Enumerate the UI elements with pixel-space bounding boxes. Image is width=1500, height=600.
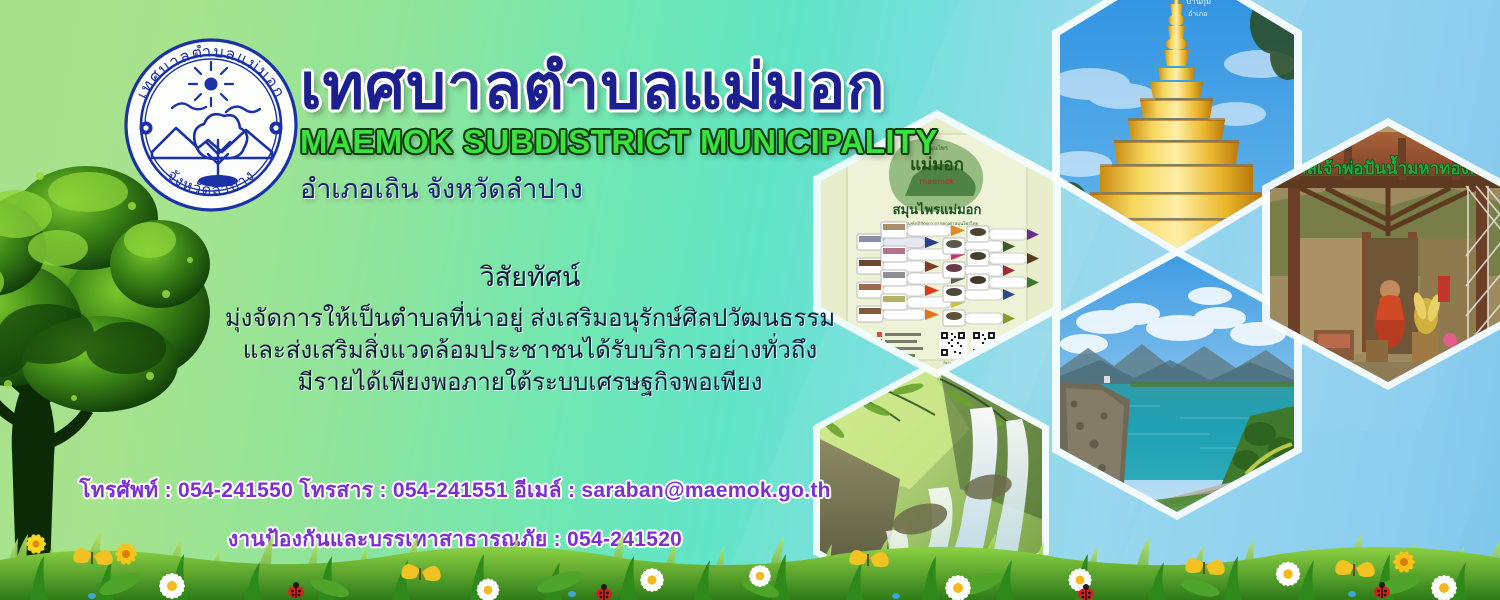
vision-line: และส่งเสริมสิ่งแวดล้อมประชาชนได้รับบริกา… <box>180 335 880 367</box>
heading-block: เทศบาลตำบลแม่มอก MAEMOK SUBDISTRICT MUNI… <box>300 56 1000 210</box>
page-subtitle-district: อำเภอเถิน จังหวัดลำปาง <box>300 167 1000 210</box>
grass-flower-border <box>0 508 1500 600</box>
vision-line: มุ่งจัดการให้เป็นตำบลที่น่าอยู่ ส่งเสริม… <box>180 303 880 335</box>
vision-title: วิสัยทัศน์ <box>180 255 880 298</box>
contact-phone-fax-email: โทรศัพท์ : 054-241550 โทรสาร : 054-24155… <box>60 474 850 507</box>
page-title-english: MAEMOK SUBDISTRICT MUNICIPALITY <box>300 123 1000 161</box>
pagoda-overlay-line3: อำเภอ <box>1188 10 1207 18</box>
page-title-thai: เทศบาลตำบลแม่มอก <box>300 56 1000 119</box>
vision-statement: วิสัยทัศน์ มุ่งจัดการให้เป็นตำบลที่น่าอย… <box>180 255 880 399</box>
vision-line: มีรายได้เพียงพอภายใต้ระบบเศรษฐกิจพอเพียง <box>180 367 880 399</box>
municipality-banner: สมุนไพร แม่มอก maemok สมุนไพรแม่มอก ผลิต… <box>0 0 1500 600</box>
municipality-seal-logo: เทศบาลตำบลแม่มอก จังหวัดลำปาง <box>122 36 300 214</box>
pagoda-overlay-line2: บ้านกุ่ม <box>1186 0 1211 6</box>
